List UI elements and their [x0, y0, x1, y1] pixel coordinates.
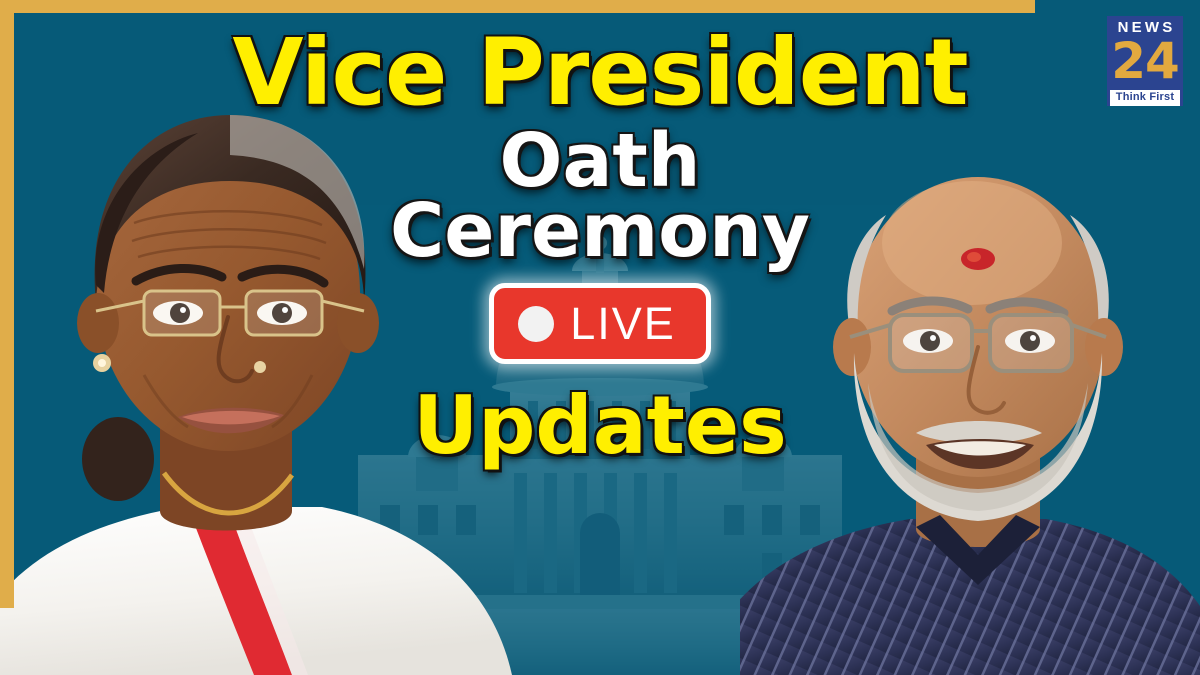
- news-thumbnail-graphic: Vice President Oath Ceremony LIVE Update…: [0, 0, 1200, 675]
- logo-tagline-text: Think First: [1110, 90, 1180, 106]
- record-dot-icon: [518, 306, 554, 342]
- headline-line-vice-president: Vice President: [232, 28, 967, 118]
- live-badge-label: LIVE: [570, 301, 676, 346]
- left-portrait-president: [0, 55, 512, 675]
- headline-line-updates: Updates: [413, 386, 787, 466]
- logo-number-text: 24: [1111, 41, 1179, 82]
- headline-line-ceremony: Ceremony: [390, 194, 810, 269]
- live-badge[interactable]: LIVE: [489, 283, 711, 364]
- frame-top-gold-bar: [0, 0, 1035, 13]
- news24-logo[interactable]: NEWS 24 Think First: [1107, 16, 1183, 106]
- frame-left-gold-bar: [0, 0, 14, 608]
